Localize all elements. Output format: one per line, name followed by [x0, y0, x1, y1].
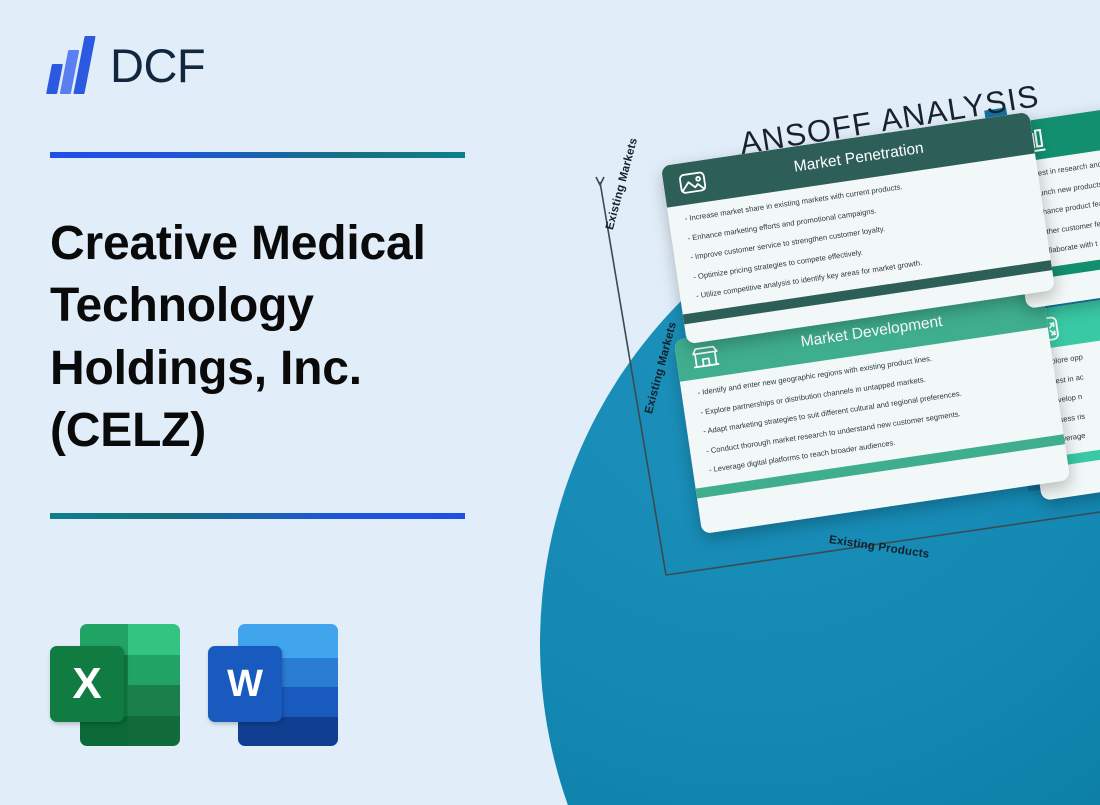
cover-page: Existing Markets Existing Markets Existi… [0, 0, 1100, 805]
divider-bottom [50, 513, 465, 519]
word-icon[interactable]: W [208, 622, 338, 746]
page-title: Creative Medical Technology Holdings, In… [50, 213, 520, 463]
excel-icon[interactable]: X [50, 622, 180, 746]
left-panel: DCF Creative Medical Technology Holdings… [0, 0, 560, 805]
ansoff-artwork: Existing Markets Existing Markets Existi… [500, 0, 1100, 805]
three-bars-icon [48, 36, 96, 94]
excel-letter: X [50, 646, 124, 722]
image-photo-icon [676, 167, 710, 199]
word-letter: W [208, 646, 282, 722]
brand-logo[interactable]: DCF [48, 36, 205, 94]
brand-logo-text: DCF [110, 42, 205, 89]
storefront-icon [689, 341, 723, 373]
divider-top [50, 152, 465, 158]
download-formats: X W [50, 622, 338, 746]
